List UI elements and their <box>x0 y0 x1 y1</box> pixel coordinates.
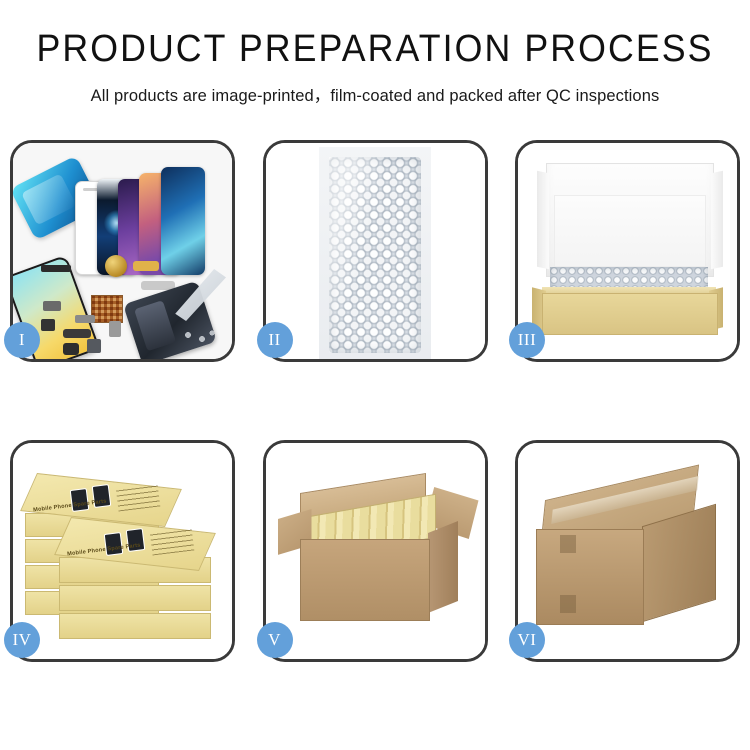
sealed-carton-illustration <box>518 443 737 659</box>
step-image-products-and-parts <box>13 143 232 359</box>
step-image-stacked-retail-boxes: Mobile Phone Spare Parts Mobile Phone Sp… <box>13 443 232 659</box>
foam-sheet <box>554 195 706 267</box>
step-badge-4: IV <box>4 622 40 658</box>
page-title: PRODUCT PREPARATION PROCESS <box>23 30 728 70</box>
carton-front-face <box>536 529 644 625</box>
process-grid: I II <box>0 140 750 662</box>
phones-parts-illustration <box>13 143 232 359</box>
small-part-5-icon <box>63 343 79 355</box>
small-part-1-icon <box>43 301 61 311</box>
carton-front-panel <box>300 539 430 621</box>
box-stack: Mobile Phone Spare Parts Mobile Phone Sp… <box>19 459 227 655</box>
small-part-6-icon <box>87 339 101 353</box>
small-part-3-icon <box>75 315 95 323</box>
page-header: PRODUCT PREPARATION PROCESS All products… <box>0 0 750 106</box>
step-image-inner-box-packing <box>518 143 737 359</box>
process-row-bottom: Mobile Phone Spare Parts Mobile Phone Sp… <box>0 440 750 662</box>
open-carton-illustration <box>266 443 485 659</box>
inner-box-illustration <box>518 143 737 359</box>
lid-checklist-2 <box>150 527 195 556</box>
carton-handle-tab-top <box>560 535 576 553</box>
step-panel-carton-filling[interactable]: V <box>263 440 488 662</box>
screws-icon <box>182 329 216 347</box>
phone-screen-fan <box>75 155 225 275</box>
step-panel-bubble-wrapped-screen[interactable]: II <box>263 140 488 362</box>
phone-screen-cyan <box>161 167 205 275</box>
step-badge-1: I <box>4 322 40 358</box>
flex-cable-dark-icon <box>63 329 91 338</box>
step-panel-inner-box-packing[interactable]: III <box>515 140 740 362</box>
bubble-wrap-texture <box>329 157 421 353</box>
process-row-top: I II <box>0 140 750 362</box>
step-image-carton-filling <box>266 443 485 659</box>
step-image-bubble-wrapped-screen <box>266 143 485 359</box>
step-panel-sealed-carton[interactable]: VI <box>515 440 740 662</box>
step-badge-2: II <box>257 322 293 358</box>
stacked-box-6 <box>59 585 211 611</box>
chip-grid-icon <box>91 295 123 323</box>
box-front-panel <box>542 293 718 335</box>
step-image-sealed-carton <box>518 443 737 659</box>
stacked-box-7 <box>59 613 211 639</box>
speaker-component-icon <box>105 255 127 277</box>
bubble-wrap-illustration <box>266 143 485 359</box>
step-panel-stacked-retail-boxes[interactable]: Mobile Phone Spare Parts Mobile Phone Sp… <box>10 440 235 662</box>
small-part-4-icon <box>109 321 121 337</box>
step-badge-3: III <box>509 322 545 358</box>
step-badge-5: V <box>257 622 293 658</box>
step-badge-6: VI <box>509 622 545 658</box>
stacked-boxes-illustration: Mobile Phone Spare Parts Mobile Phone Sp… <box>13 443 232 659</box>
small-part-2-icon <box>41 319 55 331</box>
carton-side-right <box>428 521 458 613</box>
flex-cable-gold-icon <box>133 261 159 271</box>
lid-checklist-1 <box>116 483 161 512</box>
connector-bar-icon <box>41 265 71 272</box>
carton-handle-tab-bottom <box>560 595 576 613</box>
page-subtitle: All products are image-printed，film-coat… <box>0 82 750 106</box>
step-panel-products-and-parts[interactable]: I <box>10 140 235 362</box>
